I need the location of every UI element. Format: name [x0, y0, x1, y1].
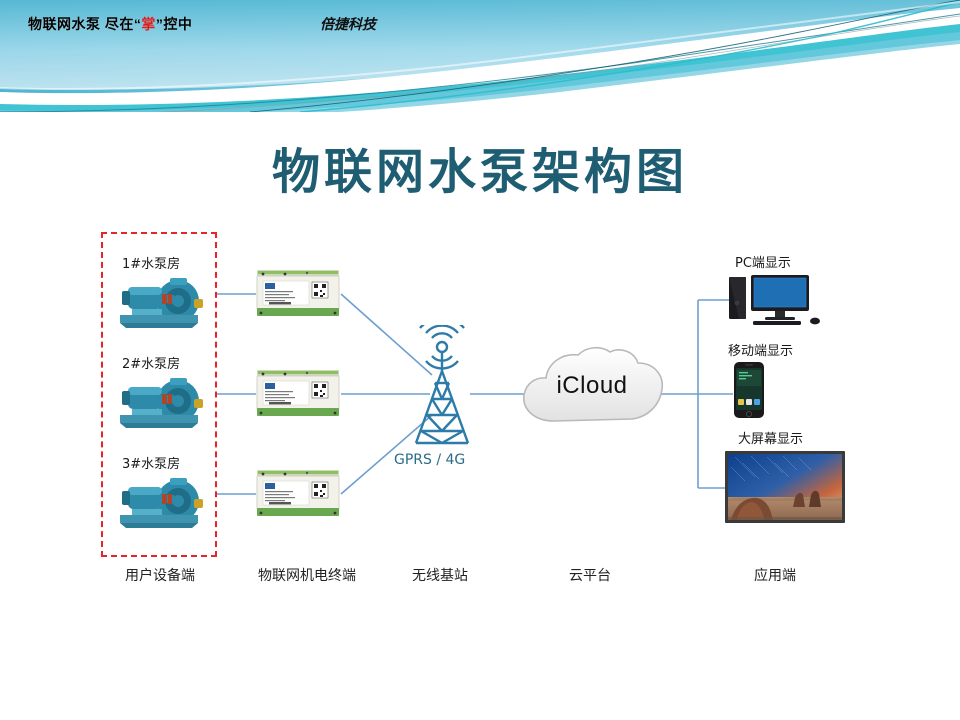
banner-headline-post: 控中	[163, 16, 192, 32]
stage-label-user-equipment: 用户设备端	[105, 565, 215, 585]
large-display-icon	[725, 451, 845, 527]
header-banner: 物联网水泵 尽在“掌”控中 倍捷科技	[0, 0, 960, 112]
page-title: 物联网水泵架构图	[0, 132, 960, 202]
large-display-label: 大屏幕显示	[738, 428, 803, 447]
desktop-computer-icon	[727, 273, 827, 329]
cell-tower-icon	[392, 325, 492, 453]
pump-room-1-label: 1#水泵房	[122, 253, 180, 272]
stage-label-cloud-platform: 云平台	[535, 565, 645, 585]
brand-name: 倍捷科技	[320, 14, 376, 34]
smartphone-icon	[733, 361, 765, 419]
banner-headline-highlight: 掌	[141, 16, 156, 32]
pump-room-3-label: 3#水泵房	[122, 453, 180, 472]
iot-terminal-icon	[255, 368, 341, 420]
water-pump-icon	[112, 275, 206, 331]
banner-headline-pre: 物联网水泵 尽在	[28, 16, 134, 32]
iot-terminal-icon	[255, 468, 341, 520]
cloud-label: iCloud	[512, 372, 672, 400]
stage-label-base-station: 无线基站	[380, 565, 500, 585]
base-station-label: GPRS / 4G	[394, 452, 465, 468]
banner-headline: 物联网水泵 尽在“掌”控中	[28, 14, 192, 34]
stage-label-application: 应用端	[720, 565, 830, 585]
pump-room-2-label: 2#水泵房	[122, 353, 180, 372]
architecture-diagram: 1#水泵房 2#水泵房	[0, 215, 960, 615]
water-pump-icon	[112, 475, 206, 531]
stage-label-iot-terminal: 物联网机电终端	[232, 565, 382, 585]
mobile-display-label: 移动端显示	[728, 340, 793, 359]
pc-display-label: PC端显示	[735, 252, 791, 271]
iot-terminal-icon	[255, 268, 341, 320]
water-pump-icon	[112, 375, 206, 431]
